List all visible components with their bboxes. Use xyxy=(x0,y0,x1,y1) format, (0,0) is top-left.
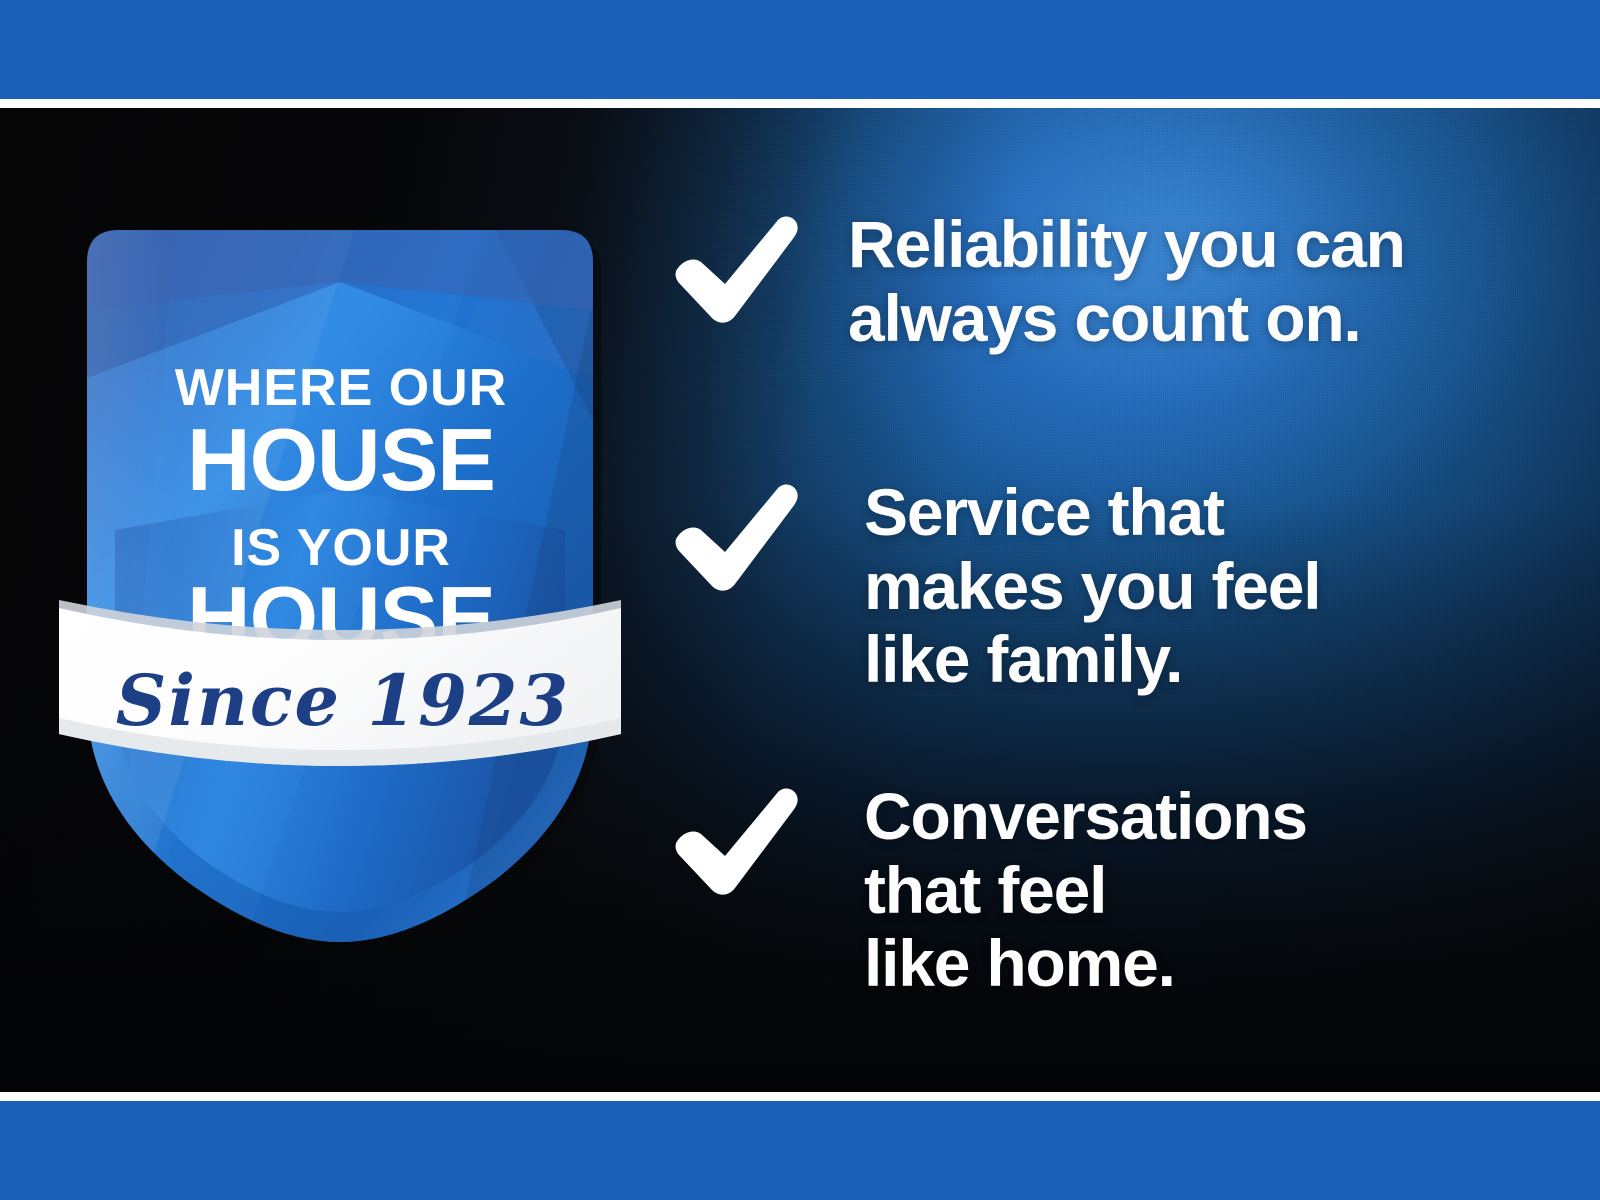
benefit-item-2: Service that makes you feel like family. xyxy=(668,476,1320,697)
shield-line-2: HOUSE xyxy=(187,410,495,509)
shield-line-1: WHERE OUR xyxy=(175,359,508,417)
benefit-item-3: Conversations that feel like home. xyxy=(668,780,1307,1001)
bottom-brand-bar xyxy=(0,1100,1600,1200)
top-divider-strip xyxy=(0,99,1600,108)
benefit-text-3: Conversations that feel like home. xyxy=(864,780,1307,1001)
checkmark-icon xyxy=(668,784,798,904)
ribbon-since-text: Since 1923 xyxy=(116,659,570,742)
benefit-item-1: Reliability you can always count on. xyxy=(668,208,1405,355)
top-brand-bar xyxy=(0,0,1600,100)
promo-graphic: WHERE OUR HOUSE IS YOUR HOUSE Since 1923 xyxy=(0,0,1600,1200)
shield-badge: WHERE OUR HOUSE IS YOUR HOUSE Since 1923 xyxy=(55,190,625,950)
benefit-text-2: Service that makes you feel like family. xyxy=(864,476,1320,697)
bottom-divider-strip xyxy=(0,1092,1600,1101)
checkmark-icon xyxy=(668,212,798,332)
checkmark-icon xyxy=(668,480,798,600)
benefits-list: Reliability you can always count on. Ser… xyxy=(660,108,1540,1092)
benefit-text-1: Reliability you can always count on. xyxy=(848,208,1405,355)
